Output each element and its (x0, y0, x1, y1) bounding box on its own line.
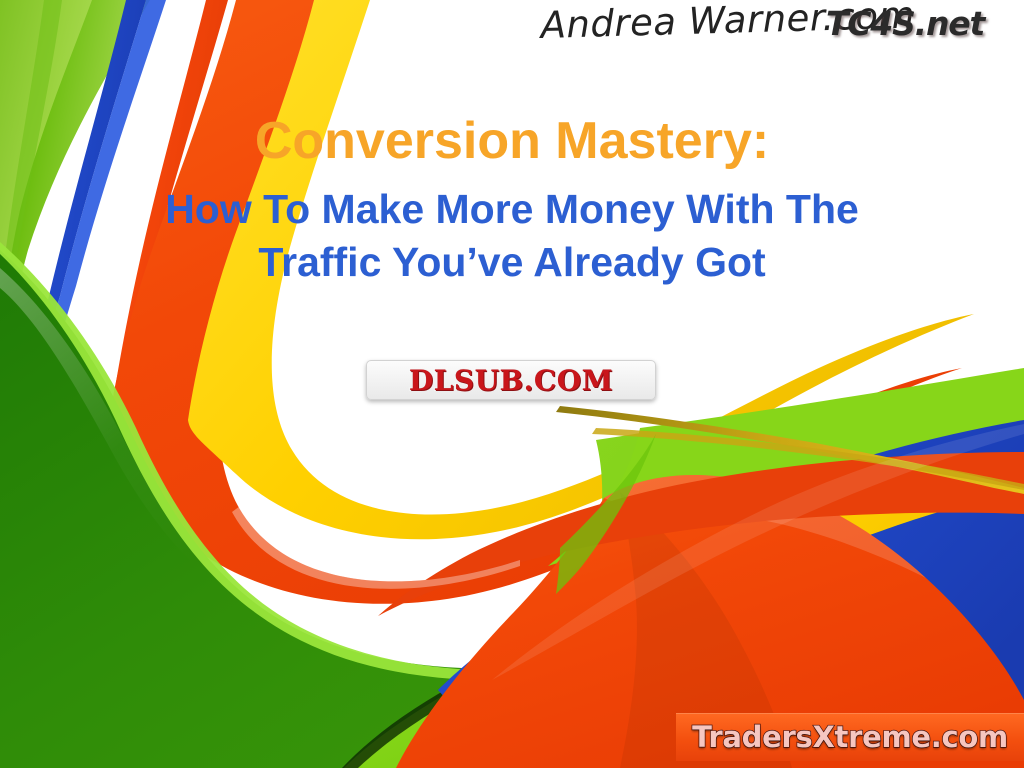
background-ribbon-artwork (0, 0, 1024, 768)
slide-canvas: Andrea Warner.com TC4S.net Conversion Ma… (0, 0, 1024, 768)
